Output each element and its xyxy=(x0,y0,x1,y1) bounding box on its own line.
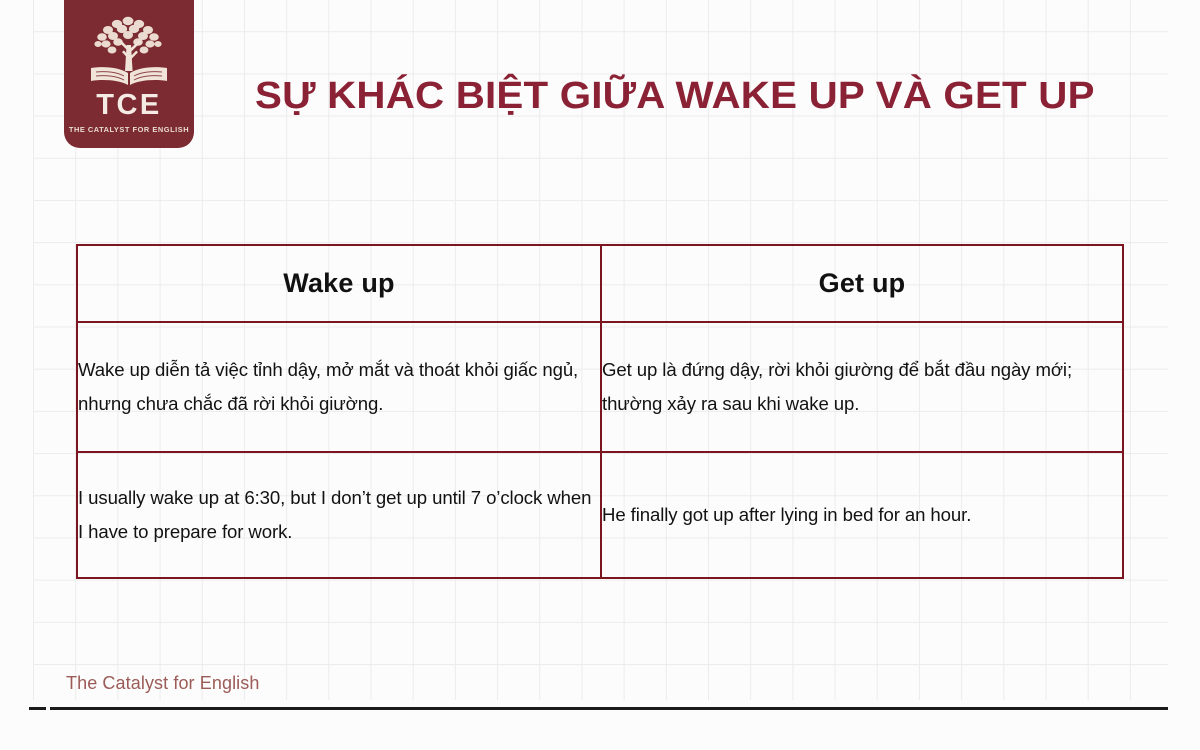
page-title: SỰ KHÁC BIỆT GIỮA WAKE UP VÀ GET UP xyxy=(255,75,1188,119)
tree-and-book-icon xyxy=(81,15,177,89)
table-header-row: Wake up Get up xyxy=(77,245,1123,322)
logo-monogram: TCE xyxy=(96,91,162,120)
footer-rule xyxy=(50,707,1168,710)
footer-brand-label: The Catalyst for English xyxy=(66,673,259,694)
cell-text: I usually wake up at 6:30, but I don’t g… xyxy=(78,481,600,550)
column-header-get-up: Get up xyxy=(601,245,1123,322)
table-row: I usually wake up at 6:30, but I don’t g… xyxy=(77,452,1123,578)
column-header-wake-up: Wake up xyxy=(77,245,601,322)
cell-wake-up-definition: Wake up diễn tả việc tỉnh dậy, mở mắt và… xyxy=(77,322,601,452)
table-row: Wake up diễn tả việc tỉnh dậy, mở mắt và… xyxy=(77,322,1123,452)
footer-dash xyxy=(29,707,46,710)
logo-badge: TCE THE CATALYST FOR ENGLISH xyxy=(64,0,194,148)
cell-wake-up-example: I usually wake up at 6:30, but I don’t g… xyxy=(77,452,601,578)
cell-get-up-definition: Get up là đứng dậy, rời khỏi giường để b… xyxy=(601,322,1123,452)
cell-text: He finally got up after lying in bed for… xyxy=(602,498,1122,532)
cell-text: Wake up diễn tả việc tỉnh dậy, mở mắt và… xyxy=(78,353,600,422)
comparison-table: Wake up Get up Wake up diễn tả việc tỉnh… xyxy=(76,244,1124,579)
cell-text: Get up là đứng dậy, rời khỏi giường để b… xyxy=(602,353,1122,422)
cell-get-up-example: He finally got up after lying in bed for… xyxy=(601,452,1123,578)
slide-canvas: TCE THE CATALYST FOR ENGLISH SỰ KHÁC BIỆ… xyxy=(0,0,1200,750)
logo-tagline: THE CATALYST FOR ENGLISH xyxy=(69,125,189,134)
